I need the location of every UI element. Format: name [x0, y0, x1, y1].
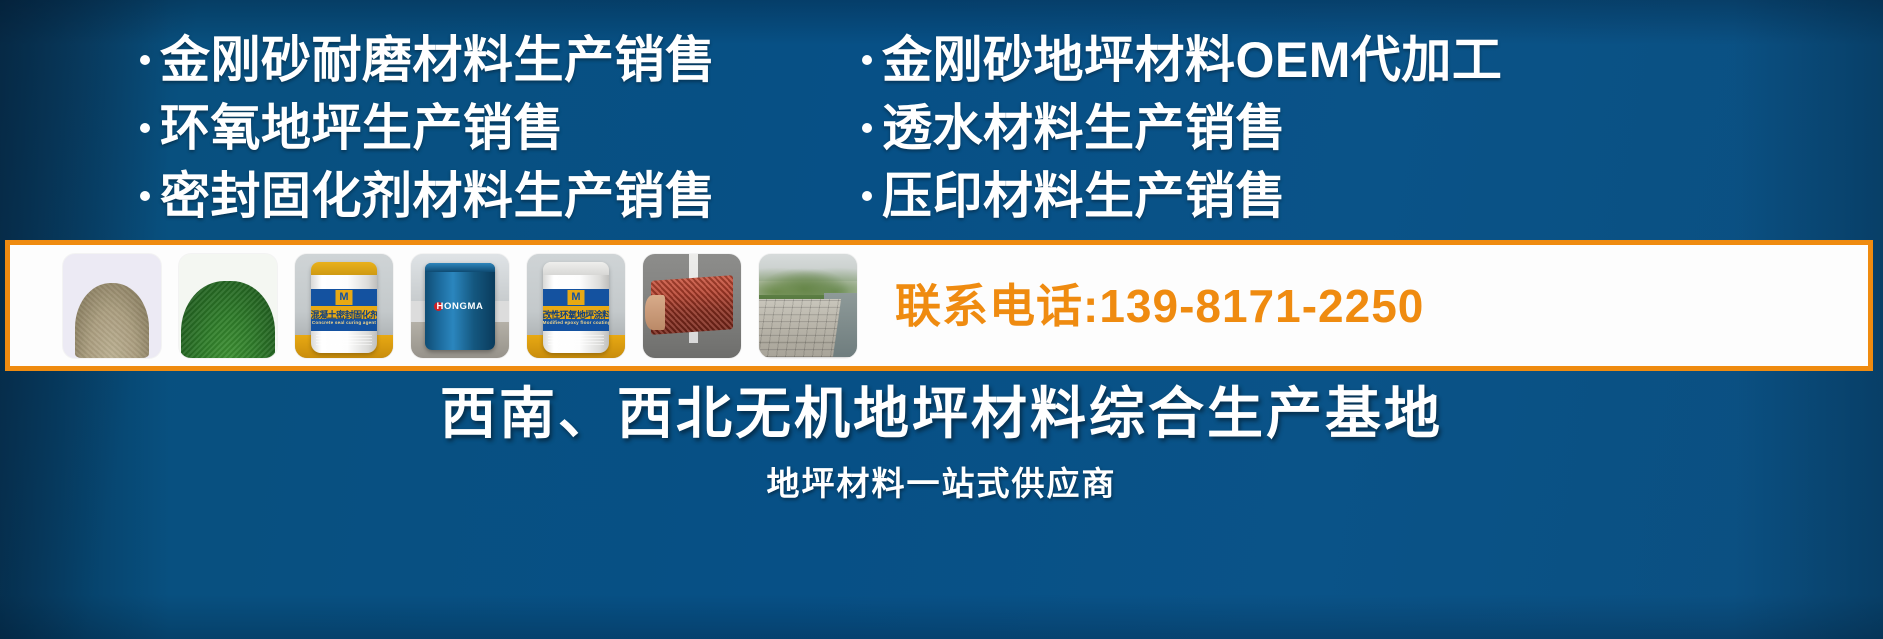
product-thumbnail-stamped-concrete-path	[759, 254, 857, 358]
bullet-dot-icon	[862, 191, 872, 201]
pail-label-cn: 改性环氧地坪涂料	[543, 308, 610, 321]
service-label: 金刚砂地坪材料OEM代加工	[882, 30, 1502, 90]
service-item: 密封固化剂材料生产销售	[140, 166, 716, 226]
product-thumbnail-sealer-pail: M 混凝土密封固化剂 Concrete seal curing agent	[295, 254, 393, 358]
contact-phone[interactable]: 联系电话:139-8171-2250	[895, 283, 1424, 329]
product-thumbnail-permeable-concrete	[643, 254, 741, 358]
service-list-right: 金刚砂地坪材料OEM代加工 透水材料生产销售 压印材料生产销售	[862, 30, 1502, 234]
service-item: 压印材料生产销售	[862, 166, 1502, 226]
pail-label-en: Modified epoxy floor coating	[543, 320, 610, 325]
bullet-dot-icon	[140, 123, 150, 133]
service-item: 环氧地坪生产销售	[140, 98, 716, 158]
product-thumbnail-epoxy-pail: M 改性环氧地坪涂料 Modified epoxy floor coating	[527, 254, 625, 358]
service-item: 透水材料生产销售	[862, 98, 1502, 158]
drum-label-en: HONGMA	[425, 301, 496, 312]
pail-label-cn: 混凝土密封固化剂	[311, 308, 378, 321]
product-thumbnail-green-aggregate-powder	[179, 254, 277, 358]
footer-text-block: 西南、西北无机地坪材料综合生产基地 地坪材料一站式供应商	[0, 378, 1883, 504]
product-photo-strip: M 混凝土密封固化剂 Concrete seal curing agent HO…	[5, 240, 1873, 371]
service-list-left: 金刚砂耐磨材料生产销售 环氧地坪生产销售 密封固化剂材料生产销售	[140, 30, 716, 234]
service-label: 金刚砂耐磨材料生产销售	[160, 30, 716, 90]
service-label: 密封固化剂材料生产销售	[160, 166, 716, 226]
service-label: 环氧地坪生产销售	[160, 98, 564, 158]
brand-mark-m: M	[335, 290, 352, 305]
service-item: 金刚砂地坪材料OEM代加工	[862, 30, 1502, 90]
bullet-dot-icon	[862, 123, 872, 133]
brand-mark-m: M	[567, 290, 584, 305]
subtitle: 地坪材料一站式供应商	[0, 464, 1883, 504]
bullet-dot-icon	[140, 191, 150, 201]
pail-label-en: Concrete seal curing agent	[311, 320, 378, 325]
headline: 西南、西北无机地坪材料综合生产基地	[0, 378, 1883, 450]
bullet-dot-icon	[140, 55, 150, 65]
service-item: 金刚砂耐磨材料生产销售	[140, 30, 716, 90]
product-thumbnail-hongma-drum: HONGMA	[411, 254, 509, 358]
service-label: 压印材料生产销售	[882, 166, 1286, 226]
bullet-dot-icon	[862, 55, 872, 65]
promotional-banner: 金刚砂耐磨材料生产销售 环氧地坪生产销售 密封固化剂材料生产销售 金刚砂地坪材料…	[0, 0, 1883, 639]
service-label: 透水材料生产销售	[882, 98, 1286, 158]
product-thumbnail-grey-aggregate-powder	[63, 254, 161, 358]
product-thumbnail-row: M 混凝土密封固化剂 Concrete seal curing agent HO…	[63, 254, 857, 358]
